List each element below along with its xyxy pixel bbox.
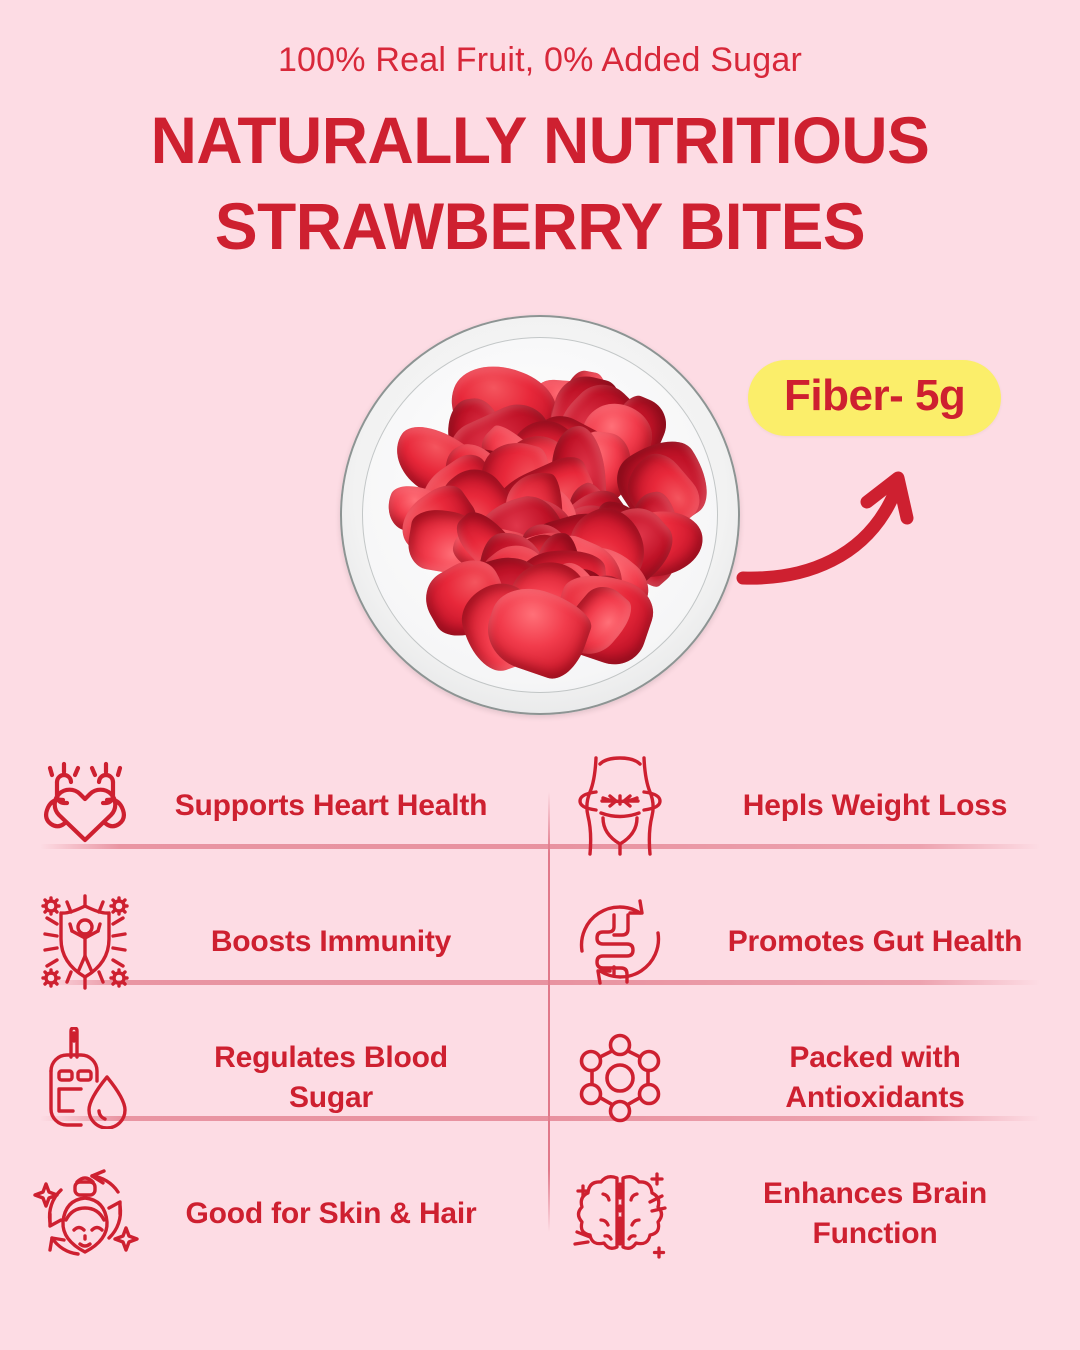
benefit-row: Supports Heart Health	[0, 740, 1080, 872]
benefit-label: Hepls Weight Loss	[700, 786, 1080, 826]
benefit-item-skin-hair: Good for Skin & Hair	[0, 1148, 540, 1280]
fiber-badge: Fiber- 5g	[748, 360, 1001, 436]
antioxidant-molecule-icon	[540, 1030, 700, 1126]
benefit-row: Good for Skin & Hair Enhances Brain Func…	[0, 1148, 1080, 1280]
benefit-item-immunity: Boosts Immunity	[0, 876, 540, 1008]
header: 100% Real Fruit, 0% Added Sugar NATURALL…	[0, 0, 1080, 268]
benefit-label: Regulates Blood Sugar	[170, 1038, 540, 1118]
skin-hair-face-icon	[0, 1162, 170, 1266]
benefit-item-brain: Enhances Brain Function	[540, 1148, 1080, 1280]
strawberry-pile	[362, 337, 718, 693]
heart-muscle-icon	[0, 760, 170, 852]
benefit-row: Regulates Blood Sugar Packed with Antiox…	[0, 1012, 1080, 1144]
eyebrow-tagline: 100% Real Fruit, 0% Added Sugar	[0, 40, 1080, 81]
benefit-label: Good for Skin & Hair	[170, 1194, 540, 1234]
product-image	[340, 315, 740, 715]
benefit-row: Boosts Immunity Promotes Gut Health	[0, 876, 1080, 1008]
headline-line-2: STRAWBERRY BITES	[16, 185, 1064, 268]
benefit-label: Enhances Brain Function	[700, 1174, 1080, 1254]
benefit-label: Packed with Antioxidants	[700, 1038, 1080, 1118]
bowl-inner	[362, 337, 718, 693]
benefit-item-heart: Supports Heart Health	[0, 740, 540, 872]
benefit-item-weight: Hepls Weight Loss	[540, 740, 1080, 872]
bowl	[340, 315, 740, 715]
brain-icon	[540, 1164, 700, 1264]
benefit-label: Supports Heart Health	[170, 786, 540, 826]
benefit-label: Boosts Immunity	[170, 922, 540, 962]
benefit-item-antioxidants: Packed with Antioxidants	[540, 1012, 1080, 1144]
pointer-arrow-icon	[735, 430, 955, 590]
benefit-label: Promotes Gut Health	[700, 922, 1080, 962]
glucometer-icon	[0, 1027, 170, 1129]
benefit-item-gut: Promotes Gut Health	[540, 876, 1080, 1008]
immunity-shield-icon	[0, 892, 170, 992]
gut-health-icon	[540, 893, 700, 991]
benefits-grid: Supports Heart Health	[0, 740, 1080, 1270]
benefit-item-blood-sugar: Regulates Blood Sugar	[0, 1012, 540, 1144]
page-title: NATURALLY NUTRITIOUS STRAWBERRY BITES	[16, 99, 1064, 268]
waist-tape-icon	[540, 756, 700, 856]
headline-line-1: NATURALLY NUTRITIOUS	[151, 103, 930, 177]
